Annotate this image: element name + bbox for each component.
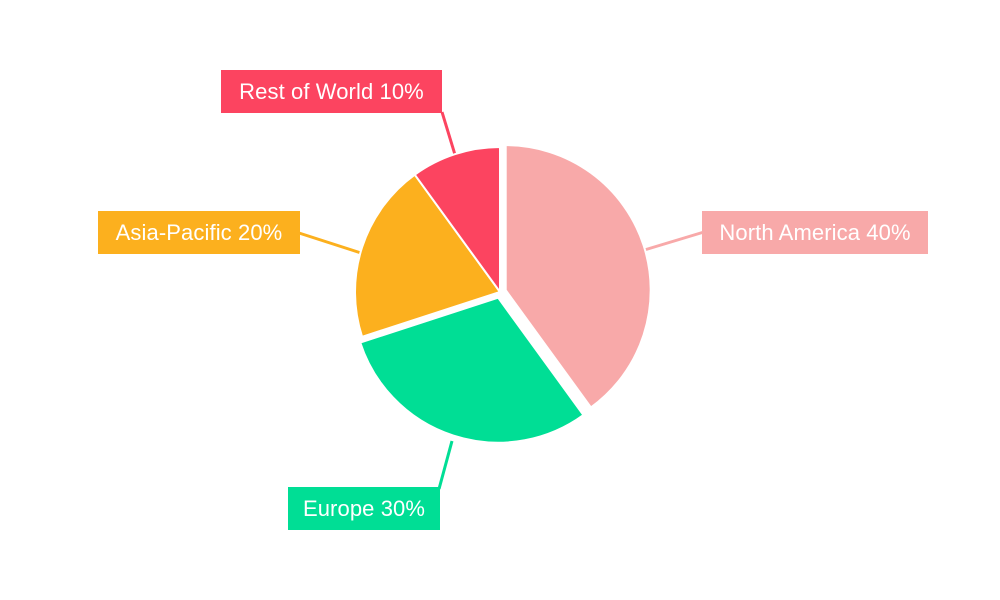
pie-chart-figure: North America 40% Europe 30% Asia-Pacifi… — [0, 0, 1000, 600]
leader-line-europe — [439, 441, 452, 489]
leader-line-north-america — [641, 232, 704, 251]
pie-label-europe[interactable]: Europe 30% — [288, 487, 440, 530]
leader-line-asia-pacific — [299, 233, 361, 253]
pie-label-rest-of-world-text: Rest of World 10% — [239, 81, 424, 103]
pie-slices-group — [355, 145, 651, 443]
pie-label-asia-pacific-text: Asia-Pacific 20% — [116, 222, 283, 244]
pie-label-rest-of-world[interactable]: Rest of World 10% — [221, 70, 442, 113]
pie-label-europe-text: Europe 30% — [303, 498, 425, 520]
pie-label-north-america-text: North America 40% — [719, 222, 910, 244]
pie-label-north-america[interactable]: North America 40% — [702, 211, 928, 254]
leader-line-rest-of-world — [442, 112, 456, 158]
pie-chart-canvas — [0, 0, 1000, 600]
pie-label-asia-pacific[interactable]: Asia-Pacific 20% — [98, 211, 300, 254]
